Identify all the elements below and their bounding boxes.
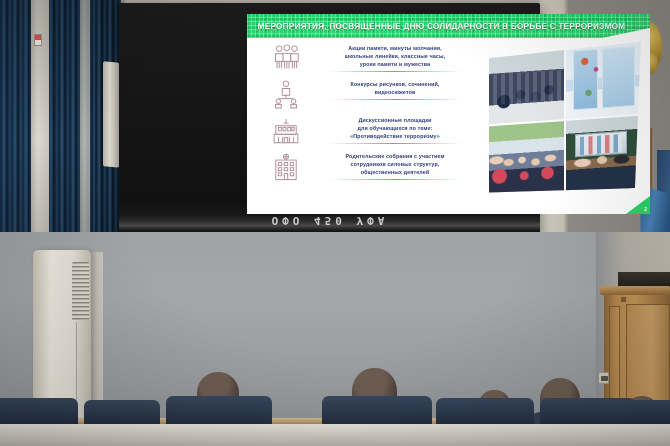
list-item: Конкурсы рисунков, сочинений, видеосюжет… [247, 76, 485, 112]
school-corridor-window-photo [566, 42, 641, 120]
classroom-presentation-photo [566, 115, 641, 193]
chair-back [0, 398, 78, 424]
assembly-hall-audience-photo [489, 47, 564, 125]
list-item-rule [328, 71, 462, 72]
schoolchildren-with-red-ribbons-photo [489, 121, 564, 199]
list-item-body: Дискуссионные площадки для обучающихся п… [309, 115, 481, 144]
slide-item-list: Акции памяти, минуты молчания, школьные … [247, 40, 485, 184]
slide-page-number: 2 [644, 207, 647, 213]
podium-knob [621, 297, 626, 302]
teacher-and-pupils-icon [269, 79, 303, 109]
list-item-line-1: Конкурсы рисунков, сочинений, [309, 81, 481, 89]
list-item-line-3: общественных деятелей [309, 169, 481, 177]
list-item-body: Родительские собрания с участием сотрудн… [309, 151, 481, 180]
air-conditioner-vent-icon [72, 262, 89, 320]
list-item-line-2: для обучающихся по теме: [309, 125, 481, 133]
wall-socket-icon[interactable] [598, 372, 609, 384]
chair-back [84, 400, 160, 424]
government-building-icon [269, 115, 303, 145]
list-item-line-3: «Противодействие терроризму» [309, 133, 481, 141]
list-item-line-3: уроки памяти и мужества [309, 61, 481, 69]
chair-back [166, 396, 272, 424]
fire-alarm-icon[interactable] [34, 34, 42, 46]
list-item: Родительские собрания с участием сотрудн… [247, 148, 485, 184]
list-item-line-1: Родительские собрания с участием [309, 153, 481, 161]
list-item-rule [328, 143, 462, 144]
chair-back [600, 400, 670, 424]
people-group-icon [269, 43, 303, 73]
list-item-line-1: Дискуссионные площадки [309, 117, 481, 125]
list-item-rule [328, 99, 462, 100]
presentation-slide[interactable]: МЕРОПРИЯТИЯ, ПОСВЯЩЕННЫЕ ДНЮ СОЛИДАРНОСТ… [247, 14, 650, 214]
chair-back [322, 396, 432, 424]
list-item-line-2: видеосюжетов [309, 89, 481, 97]
list-item: Акции памяти, минуты молчания, школьные … [247, 40, 485, 76]
chair-back [436, 398, 534, 424]
conference-hall-scene: МЕРОПРИЯТИЯ, ПОСВЯЩЕННЫЕ ДНЮ СОЛИДАРНОСТ… [0, 0, 670, 446]
wall-display[interactable]: МЕРОПРИЯТИЯ, ПОСВЯЩЕННЫЕ ДНЮ СОЛИДАРНОСТ… [119, 3, 540, 239]
podium-top-ledge [600, 286, 670, 295]
list-item-line-2: школьные линейки, классные часы, [309, 53, 481, 61]
wall-speaker-icon [103, 61, 120, 167]
list-item-rule [328, 179, 462, 180]
list-item: Дискуссионные площадки для обучающихся п… [247, 112, 485, 148]
list-item-body: Акции памяти, минуты молчания, школьные … [309, 43, 481, 72]
list-item-body: Конкурсы рисунков, сочинений, видеосюжет… [309, 79, 481, 100]
list-item-line-2: сотрудников силовых структур, [309, 161, 481, 169]
front-desk [0, 424, 670, 446]
photo-collage [489, 42, 641, 199]
apartment-building-icon [269, 151, 303, 181]
list-item-line-1: Акции памяти, минуты молчания, [309, 45, 481, 53]
bezel-reflection-text: ОФО 450 УФА [240, 213, 420, 227]
slide-title: МЕРОПРИЯТИЯ, ПОСВЯЩЕННЫЕ ДНЮ СОЛИДАРНОСТ… [247, 14, 650, 38]
